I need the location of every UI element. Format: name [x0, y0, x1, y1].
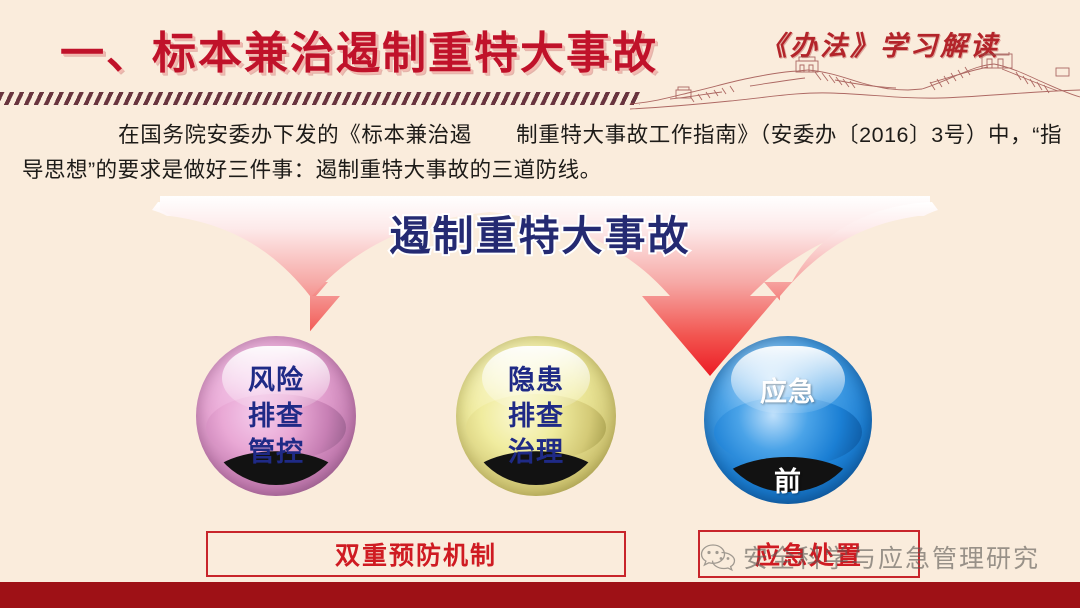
hatched-divider	[0, 92, 640, 105]
diagram-headline-text: 遏制重特大事故	[390, 213, 691, 259]
sphere-hazard-management[interactable]: 隐患 排查 治理	[456, 336, 616, 496]
callout-dual-prevention-label: 双重预防机制	[335, 536, 497, 572]
callout-emergency-disposal-label: 应急处置	[755, 536, 863, 572]
sphere-risk-control[interactable]: 风险 排查 管控	[196, 336, 356, 496]
sphere-emergency-label: 应急 前	[704, 374, 872, 446]
sphere-hazard-line-2: 排查	[456, 398, 616, 434]
sphere-risk-line-3: 管控	[196, 434, 356, 470]
sphere-hazard-line-1: 隐患	[456, 362, 616, 398]
footer-bar	[0, 582, 1080, 608]
callout-dual-prevention[interactable]: 双重预防机制	[206, 531, 626, 577]
paragraph-text: 在国务院安委办下发的《标本兼治遏 制重特大事故工作指南》（安委办〔2016〕3号…	[22, 123, 1062, 182]
great-wall-line-art	[630, 52, 1080, 110]
sphere-emergency-line-1: 应急	[704, 374, 872, 410]
callout-emergency-disposal[interactable]: 应急处置	[698, 530, 920, 578]
page-title: 一、标本兼治遏制重特大事故	[60, 17, 658, 81]
body-paragraph: 在国务院安委办下发的《标本兼治遏 制重特大事故工作指南》（安委办〔2016〕3号…	[22, 118, 1062, 188]
slide-header: 一、标本兼治遏制重特大事故 《办法》学习解读	[0, 0, 1080, 110]
sphere-hazard-line-3: 治理	[456, 434, 616, 470]
sphere-risk-line-2: 排查	[196, 398, 356, 434]
sphere-emergency-response[interactable]: 应急 前	[704, 336, 872, 504]
diagram-headline: 遏制重特大事故	[0, 202, 1080, 262]
sphere-emergency-line-2: 前	[704, 464, 872, 500]
sphere-risk-label: 风险 排查 管控	[196, 362, 356, 470]
sphere-risk-line-1: 风险	[196, 362, 356, 398]
sphere-hazard-label: 隐患 排查 治理	[456, 362, 616, 470]
slide-canvas: 一、标本兼治遏制重特大事故 《办法》学习解读	[0, 0, 1080, 608]
